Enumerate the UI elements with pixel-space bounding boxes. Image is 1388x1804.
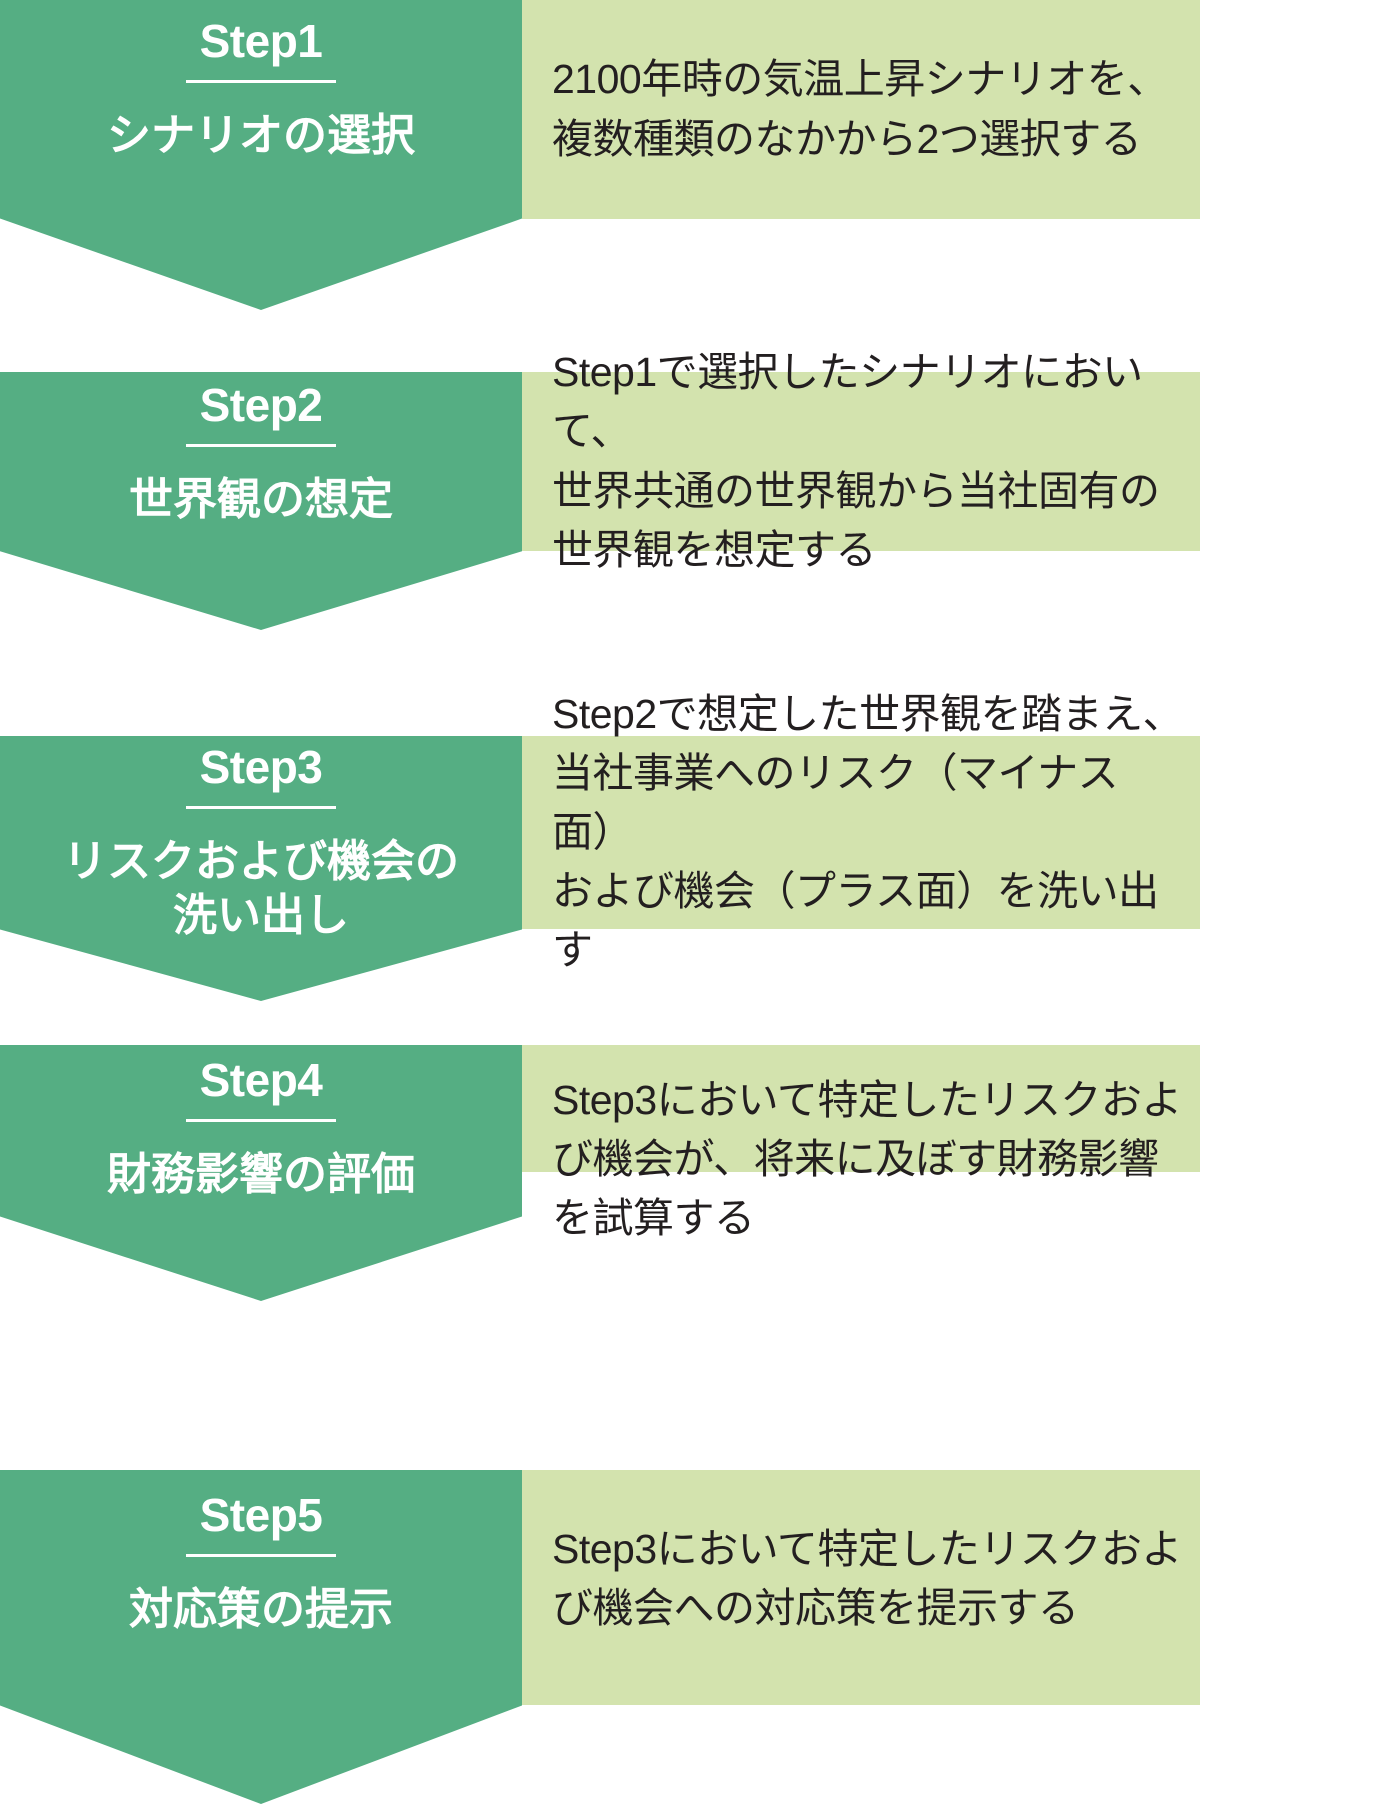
step-4-arrow-block: Step4 財務影響の評価 xyxy=(0,1045,522,1301)
flow-step-2: Step2 世界観の想定 Step1で選択したシナリオにおいて、 世界共通の世界… xyxy=(0,372,1388,630)
flow-step-1: Step1 シナリオの選択 2100年時の気温上昇シナリオを、 複数種類のなかか… xyxy=(0,0,1388,310)
step-1-label: Step1 xyxy=(200,18,323,64)
flow-step-5: Step5 対応策の提示 Step3において特定したリスクおよ び機会への対応策… xyxy=(0,1470,1388,1804)
step-5-title: 対応策の提示 xyxy=(129,1583,393,1637)
step-2-description-panel: Step1で選択したシナリオにおいて、 世界共通の世界観から当社固有の 世界観を… xyxy=(522,372,1200,551)
flow-step-3: Step3 リスクおよび機会の 洗い出し Step2で想定した世界観を踏まえ、 … xyxy=(0,736,1388,1001)
step-2-description: Step1で選択したシナリオにおいて、 世界共通の世界観から当社固有の 世界観を… xyxy=(522,343,1200,579)
step-5-description: Step3において特定したリスクおよ び機会への対応策を提示する xyxy=(522,1520,1192,1638)
step-1-arrow-block: Step1 シナリオの選択 xyxy=(0,0,522,310)
step-4-description: Step3において特定したリスクおよ び機会が、将来に及ぼす財務影響 を試算する xyxy=(522,1071,1192,1248)
step-5-divider xyxy=(186,1554,336,1557)
step-3-arrow-block: Step3 リスクおよび機会の 洗い出し xyxy=(0,736,522,1001)
step-3-description-panel: Step2で想定した世界観を踏まえ、 当社事業へのリスク（マイナス面） および機… xyxy=(522,736,1200,929)
flow-step-4: Step4 財務影響の評価 Step3において特定したリスクおよ び機会が、将来… xyxy=(0,1045,1388,1301)
step-1-divider xyxy=(186,80,336,83)
step-1-title: シナリオの選択 xyxy=(107,109,415,163)
step-4-label: Step4 xyxy=(200,1057,323,1103)
step-2-title: 世界観の想定 xyxy=(129,473,393,527)
step-3-divider xyxy=(186,806,336,809)
step-5-arrow-block: Step5 対応策の提示 xyxy=(0,1470,522,1804)
step-3-description: Step2で想定した世界観を踏まえ、 当社事業へのリスク（マイナス面） および機… xyxy=(522,685,1200,980)
step-3-title: リスクおよび機会の 洗い出し xyxy=(63,835,459,942)
step-2-arrow-block: Step2 世界観の想定 xyxy=(0,372,522,630)
step-4-divider xyxy=(186,1119,336,1122)
step-2-label: Step2 xyxy=(200,382,323,428)
step-3-label: Step3 xyxy=(200,744,323,790)
step-2-divider xyxy=(186,444,336,447)
scenario-analysis-flowchart: Step1 シナリオの選択 2100年時の気温上昇シナリオを、 複数種類のなかか… xyxy=(0,0,1388,1804)
step-4-title: 財務影響の評価 xyxy=(107,1148,415,1202)
step-4-description-panel: Step3において特定したリスクおよ び機会が、将来に及ぼす財務影響 を試算する xyxy=(522,1045,1200,1172)
step-1-description: 2100年時の気温上昇シナリオを、 複数種類のなかから2つ選択する xyxy=(522,50,1178,168)
step-5-label: Step5 xyxy=(200,1492,323,1538)
step-5-description-panel: Step3において特定したリスクおよ び機会への対応策を提示する xyxy=(522,1470,1200,1705)
step-1-description-panel: 2100年時の気温上昇シナリオを、 複数種類のなかから2つ選択する xyxy=(522,0,1200,219)
